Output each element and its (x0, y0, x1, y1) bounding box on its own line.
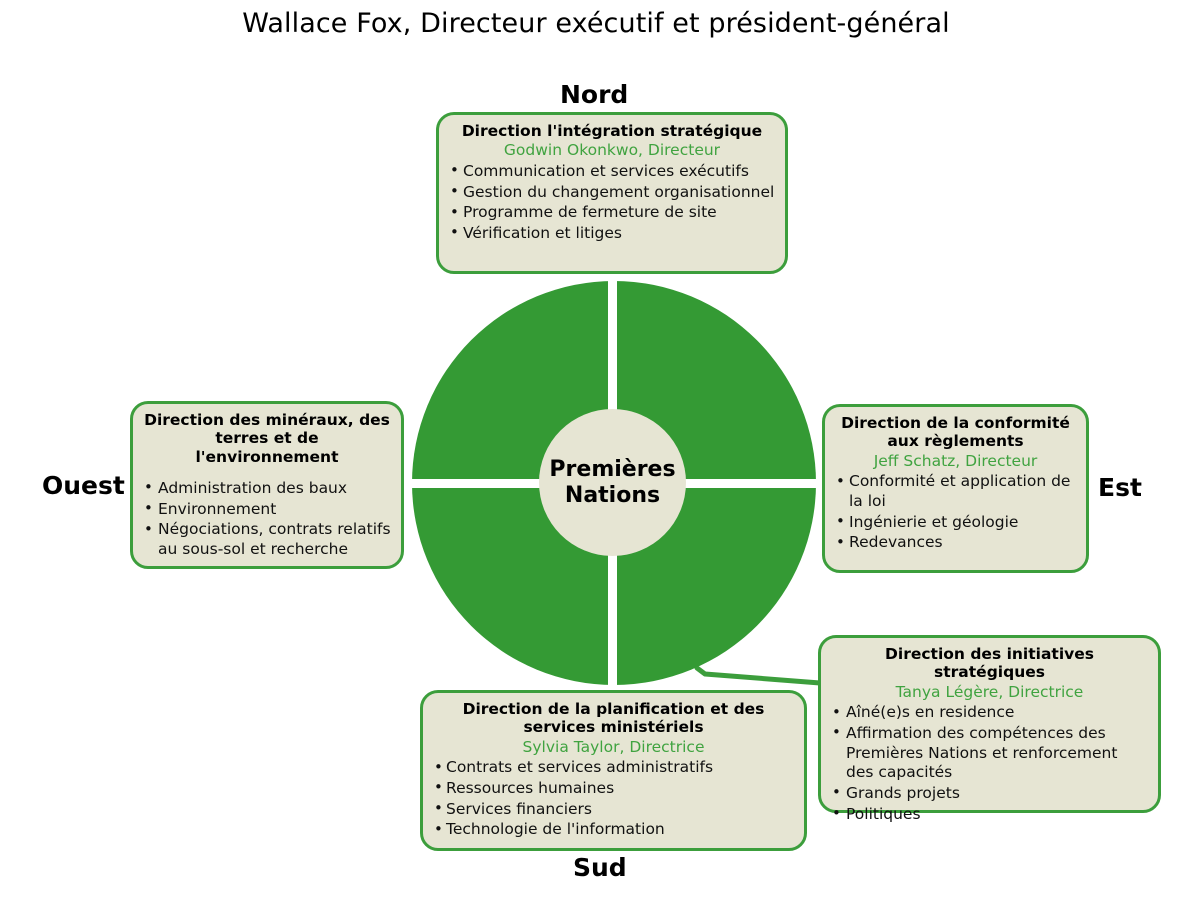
card-item-list: Communication et services exécutifs Gest… (448, 162, 776, 244)
card-title: Direction des initiatives stratégiques (830, 645, 1149, 682)
card-list-item: Conformité et application de la loi (834, 472, 1077, 511)
card-person: Godwin Okonkwo, Directeur (448, 141, 776, 160)
direction-card-southeast[interactable]: Direction des initiatives stratégiques T… (818, 635, 1161, 813)
central-hub: Premières Nations (539, 409, 686, 556)
card-list-item: Communication et services exécutifs (448, 162, 776, 182)
card-title: Direction l'intégration stratégique (448, 122, 776, 140)
card-list-item: Environnement (142, 500, 392, 520)
direction-card-west[interactable]: Direction des minéraux, des terres et de… (130, 401, 404, 569)
card-item-list: Contrats et services administratifs Ress… (432, 758, 795, 840)
direction-card-north[interactable]: Direction l'intégration stratégique Godw… (436, 112, 788, 274)
card-list-item: Gestion du changement organisationnel (448, 183, 776, 203)
card-person: Tanya Légère, Directrice (830, 683, 1149, 702)
card-list-item: Redevances (834, 533, 1077, 553)
compass-label-west: Ouest (42, 471, 125, 500)
card-list-item: Négociations, contrats relatifs au sous-… (142, 520, 392, 559)
card-title: Direction de la conformité aux règlement… (834, 414, 1077, 451)
page-title: Wallace Fox, Directeur exécutif et prési… (0, 8, 1192, 39)
card-person: Jeff Schatz, Directeur (834, 452, 1077, 471)
card-item-list: Conformité et application de la loi Ingé… (834, 472, 1077, 553)
card-item-list: Aîné(e)s en residence Affirmation des co… (830, 703, 1149, 824)
direction-card-south[interactable]: Direction de la planification et des ser… (420, 690, 807, 851)
central-hub-label: Premières Nations (549, 457, 675, 509)
card-list-item: Services financiers (432, 800, 795, 820)
card-list-item: Ressources humaines (432, 779, 795, 799)
org-chart-canvas: Wallace Fox, Directeur exécutif et prési… (0, 0, 1192, 902)
card-item-list: Administration des baux Environnement Né… (142, 479, 392, 560)
direction-card-east[interactable]: Direction de la conformité aux règlement… (822, 404, 1089, 573)
compass-label-north: Nord (560, 80, 628, 109)
card-list-item: Aîné(e)s en residence (830, 703, 1149, 723)
card-title: Direction de la planification et des ser… (432, 700, 795, 737)
card-list-item: Administration des baux (142, 479, 392, 499)
card-list-item: Politiques (830, 805, 1149, 825)
compass-label-east: Est (1098, 473, 1142, 502)
card-person: Sylvia Taylor, Directrice (432, 738, 795, 757)
card-list-item: Grands projets (830, 784, 1149, 804)
compass-label-south: Sud (573, 853, 627, 882)
card-list-item: Programme de fermeture de site (448, 203, 776, 223)
card-list-item: Vérification et litiges (448, 224, 776, 244)
card-list-item: Technologie de l'information (432, 820, 795, 840)
card-title: Direction des minéraux, des terres et de… (142, 411, 392, 466)
card-list-item: Affirmation des compétences des Première… (830, 724, 1149, 783)
card-list-item: Contrats et services administratifs (432, 758, 795, 778)
card-list-item: Ingénierie et géologie (834, 513, 1077, 533)
